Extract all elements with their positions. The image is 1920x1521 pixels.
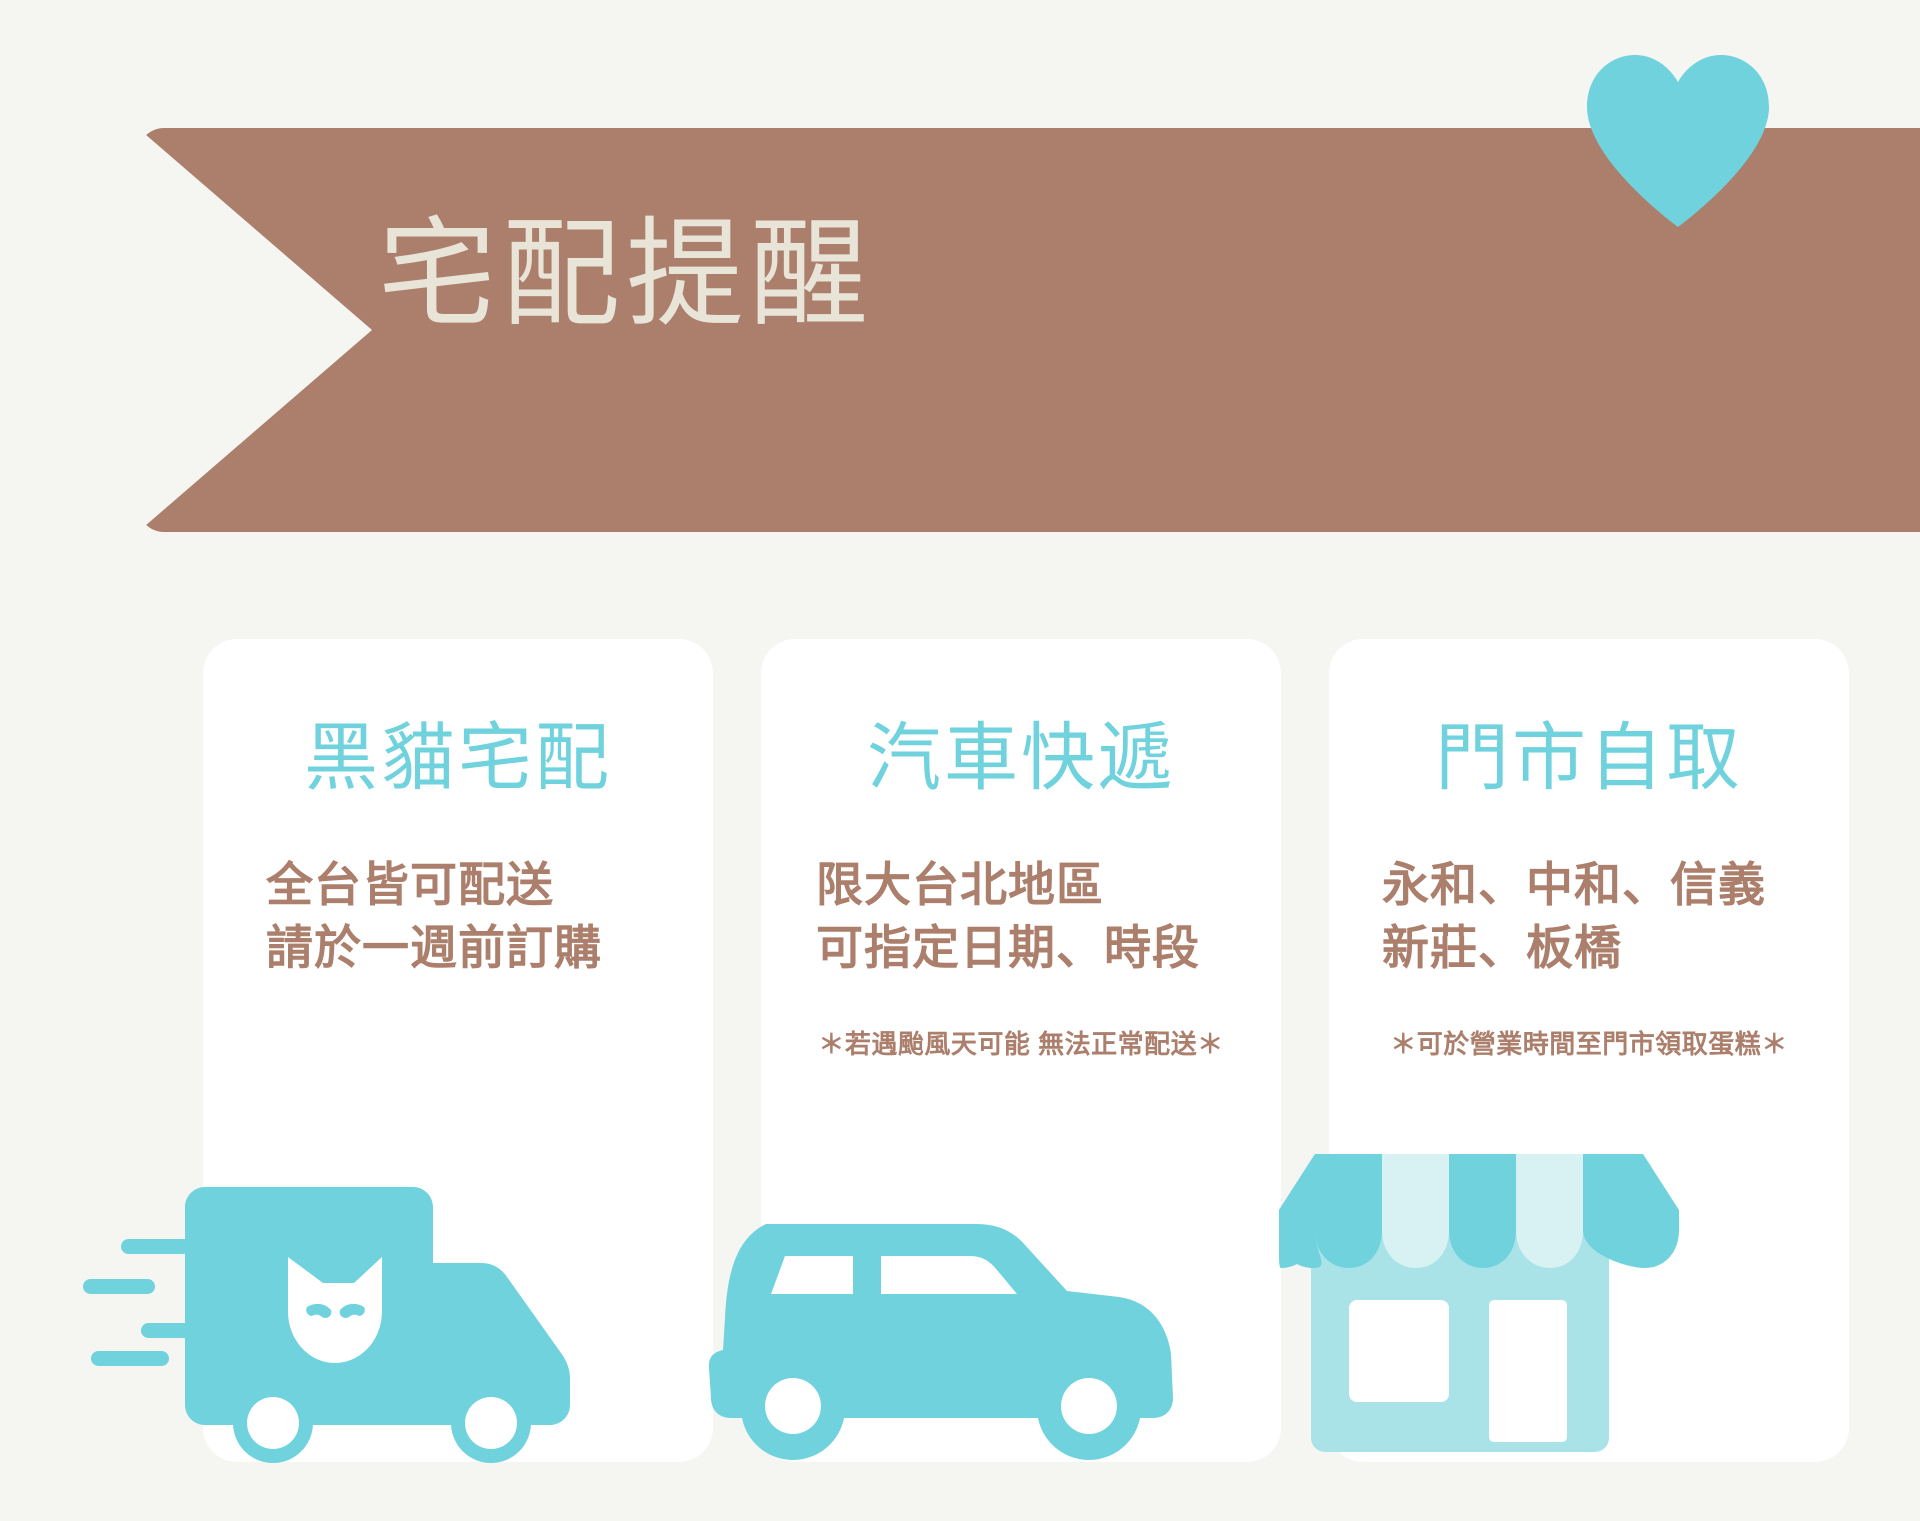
card-kuroneko-delivery[interactable]: 黑貓宅配 全台皆可配送 請於一週前訂購 xyxy=(203,639,713,1462)
card-car-express[interactable]: 汽車快遞 限大台北地區 可指定日期、時段 ＊若遇颱風天可能 無法正常配送＊ xyxy=(761,639,1281,1462)
card-heading: 黑貓宅配 xyxy=(203,721,713,795)
card-heading: 門市自取 xyxy=(1329,721,1849,795)
card-body-line-2: 請於一週前訂購 xyxy=(266,917,602,980)
storefront-icon xyxy=(1279,1120,1679,1462)
delivery-options-row: 黑貓宅配 全台皆可配送 請於一週前訂購 xyxy=(0,639,1920,1469)
card-heading: 汽車快遞 xyxy=(761,721,1281,795)
card-store-pickup[interactable]: 門市自取 永和、中和、信義 新莊、板橋 ＊可於營業時間至門市領取蛋糕＊ xyxy=(1329,639,1849,1462)
page-title: 宅配提醒 xyxy=(378,202,874,350)
card-body-line-1: 永和、中和、信義 xyxy=(1382,854,1766,917)
car-icon xyxy=(701,1198,1181,1458)
card-body-line-2: 新莊、板橋 xyxy=(1382,917,1766,980)
card-body-text: 全台皆可配送 請於一週前訂購 xyxy=(266,854,602,979)
card-body-text: 限大台北地區 可指定日期、時段 xyxy=(816,854,1200,979)
card-body-line-1: 限大台北地區 xyxy=(816,854,1200,917)
card-body-line-1: 全台皆可配送 xyxy=(266,854,602,917)
card-note: ＊可於營業時間至門市領取蛋糕＊ xyxy=(1329,1029,1849,1060)
heart-icon xyxy=(1583,52,1773,227)
delivery-truck-icon xyxy=(83,1183,573,1468)
card-body-text: 永和、中和、信義 新莊、板橋 xyxy=(1382,854,1766,979)
card-body-line-2: 可指定日期、時段 xyxy=(816,917,1200,980)
poster-canvas: 宅配提醒 黑貓宅配 全台皆可配送 請於一週前訂購 xyxy=(0,0,1920,1521)
card-note: ＊若遇颱風天可能 無法正常配送＊ xyxy=(761,1029,1281,1060)
